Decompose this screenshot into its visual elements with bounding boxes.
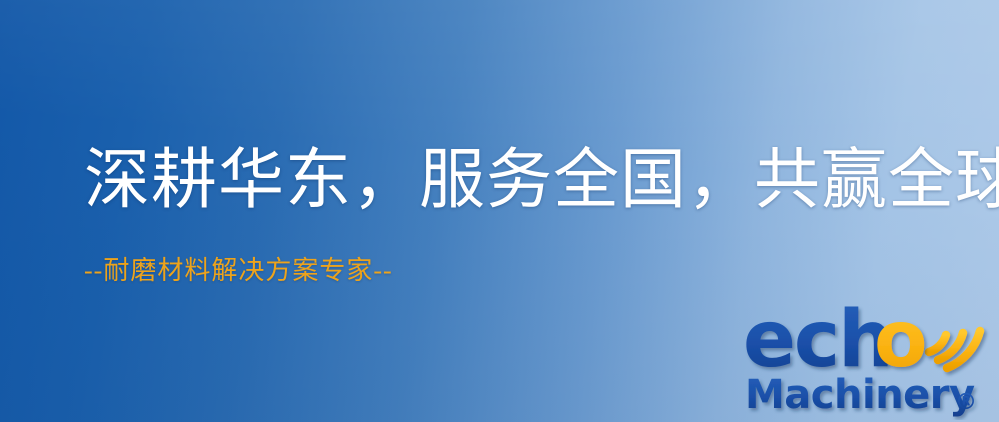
logo-machinery-wordmark: Machinery ® [745, 372, 977, 418]
svg-text:®: ® [955, 390, 977, 415]
banner-copy-block: 深耕华东，服务全国，共赢全球 --耐磨材料解决方案专家-- [84, 148, 999, 284]
echo-machinery-logo: ech o Machinery ® [741, 292, 993, 420]
signal-arcs-icon [929, 331, 980, 368]
svg-text:Machinery: Machinery [745, 372, 975, 418]
banner-subtitle: --耐磨材料解决方案专家-- [84, 258, 999, 284]
banner-headline: 深耕华东，服务全国，共赢全球 [84, 148, 999, 214]
promo-banner: 深耕华东，服务全国，共赢全球 --耐磨材料解决方案专家-- [0, 0, 999, 422]
